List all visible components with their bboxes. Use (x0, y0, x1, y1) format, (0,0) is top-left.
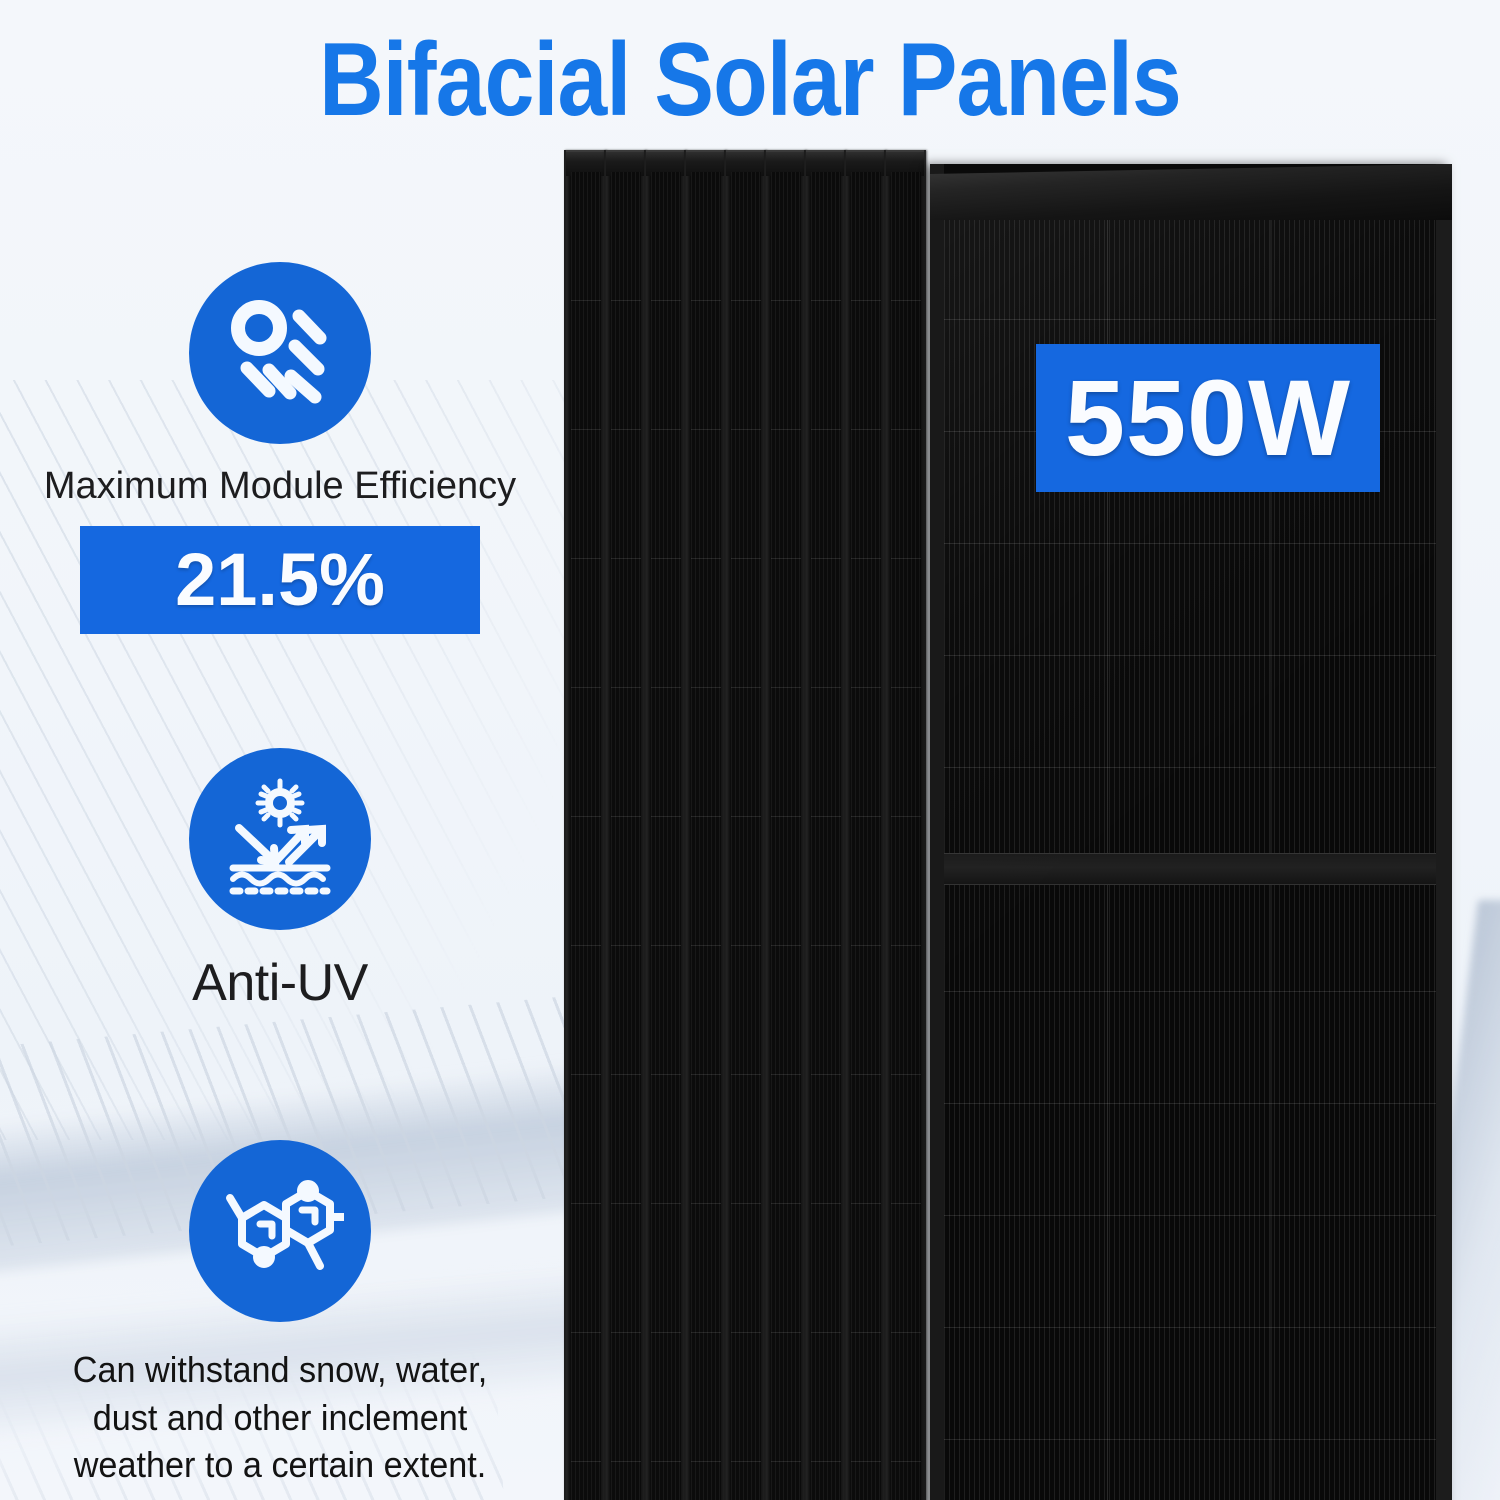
page-title: Bifacial Solar Panels (105, 22, 1395, 138)
panel-edge (604, 150, 646, 1500)
feature-anti-uv: Anti-UV (0, 748, 560, 1014)
panel-cell-face (851, 172, 881, 1500)
panel-edge (884, 150, 926, 1500)
wattage-badge: 550W (1036, 344, 1380, 492)
feature-efficiency: Maximum Module Efficiency 21.5% (0, 262, 560, 634)
panel-edge (804, 150, 846, 1500)
panel-cell-face (611, 172, 641, 1500)
feature-anti-uv-label: Anti-UV (0, 952, 560, 1014)
panel-cell-face (651, 172, 681, 1500)
feature-weather-caption: Can withstand snow, water, dust and othe… (14, 1346, 546, 1489)
infographic-canvas: Bifacial Solar Panels 550W (0, 0, 1500, 1500)
panel-junction-band (944, 853, 1436, 885)
uv-reflection-icon (189, 748, 371, 930)
panel-edge (844, 150, 886, 1500)
feature-weather-resistance: Can withstand snow, water, dust and othe… (0, 1140, 560, 1489)
efficiency-value-badge: 21.5% (80, 526, 480, 634)
panel-edge (644, 150, 686, 1500)
efficiency-value-label: 21.5% (175, 543, 385, 617)
panel-cell-face (731, 172, 761, 1500)
panel-edge (564, 150, 606, 1500)
panel-cell-face (691, 172, 721, 1500)
panel-cell-face (891, 172, 921, 1500)
panel-edge (764, 150, 806, 1500)
wattage-badge-label: 550W (1065, 364, 1351, 472)
panel-cell-face (811, 172, 841, 1500)
feature-efficiency-label: Maximum Module Efficiency (0, 464, 560, 510)
panel-edge (684, 150, 726, 1500)
panel-cell-face (571, 172, 601, 1500)
sun-rays-icon (189, 262, 371, 444)
panel-cell-face (771, 172, 801, 1500)
molecule-icon (189, 1140, 371, 1322)
panel-edge (724, 150, 766, 1500)
